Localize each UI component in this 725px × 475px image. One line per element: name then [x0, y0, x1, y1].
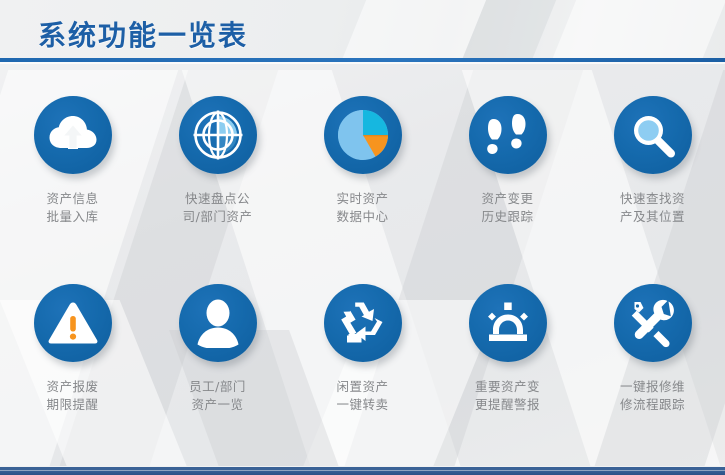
feature-tile[interactable]: 一键报修维 修流程跟踪: [580, 266, 725, 454]
feature-label: 员工/部门 资产一览: [189, 378, 246, 414]
pie-chart-icon[interactable]: [324, 96, 402, 174]
feature-tile[interactable]: 资产变更 历史跟踪: [435, 78, 580, 266]
feature-label: 资产变更 历史跟踪: [481, 190, 533, 226]
feature-tile[interactable]: 快速查找资 产及其位置: [580, 78, 725, 266]
feature-tile[interactable]: 资产报废 期限提醒: [0, 266, 145, 454]
slide-header: 系统功能一览表: [0, 0, 725, 62]
user-person-icon[interactable]: [179, 284, 257, 362]
alarm-beacon-icon[interactable]: [469, 284, 547, 362]
feature-label: 实时资产 数据中心: [336, 190, 388, 226]
feature-label: 资产信息 批量入库: [46, 190, 98, 226]
title-underline-highlight: [0, 62, 725, 64]
magnifier-icon[interactable]: [614, 96, 692, 174]
cloud-upload-icon[interactable]: [34, 96, 112, 174]
feature-tile[interactable]: 快速盘点公 司/部门资产: [145, 78, 290, 266]
feature-tile[interactable]: 重要资产变 更提醒警报: [435, 266, 580, 454]
page-title: 系统功能一览表: [38, 14, 248, 54]
feature-tile[interactable]: 资产信息 批量入库: [0, 78, 145, 266]
feature-label: 快速查找资 产及其位置: [620, 190, 685, 226]
feature-label: 一键报修维 修流程跟踪: [620, 378, 685, 414]
footprints-icon[interactable]: [469, 96, 547, 174]
feature-label: 资产报废 期限提醒: [46, 378, 98, 414]
feature-tile[interactable]: 员工/部门 资产一览: [145, 266, 290, 454]
feature-label: 闲置资产 一键转卖: [336, 378, 388, 414]
slide-root: 系统功能一览表 资产信息 批量入库: [0, 0, 725, 475]
wrench-screwdriver-icon[interactable]: [614, 284, 692, 362]
target-crosshair-icon[interactable]: [179, 96, 257, 174]
feature-label: 快速盘点公 司/部门资产: [183, 190, 253, 226]
recycle-icon[interactable]: [324, 284, 402, 362]
feature-label: 重要资产变 更提醒警报: [475, 378, 540, 414]
warning-triangle-icon[interactable]: [34, 284, 112, 362]
footer-accent-line: [0, 467, 725, 470]
feature-grid: 资产信息 批量入库 快速盘点公 司/部门资产: [0, 78, 725, 453]
feature-tile[interactable]: 闲置资产 一键转卖: [290, 266, 435, 454]
feature-tile[interactable]: 实时资产 数据中心: [290, 78, 435, 266]
